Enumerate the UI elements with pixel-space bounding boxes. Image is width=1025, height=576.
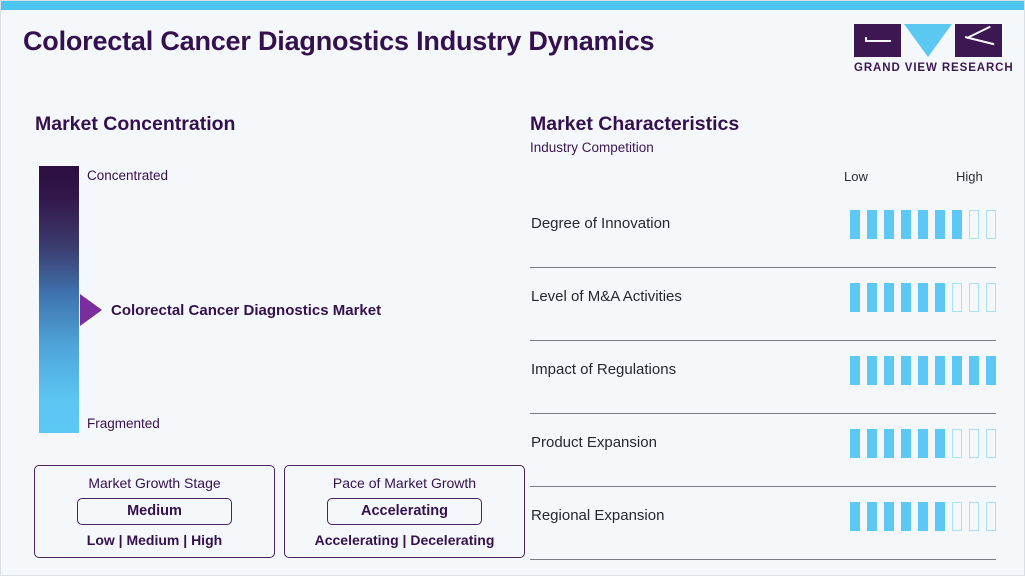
scale-bottom-label: Fragmented: [87, 416, 160, 431]
market-growth-stage-box: Market Growth Stage Medium Low | Medium …: [34, 465, 275, 558]
rating-tick-filled: [901, 429, 911, 458]
rating-tick-filled: [884, 210, 894, 239]
marker-arrow-icon: [80, 294, 102, 326]
concentration-gradient-bar: [39, 166, 79, 433]
page-title: Colorectal Cancer Diagnostics Industry D…: [23, 26, 654, 57]
infographic-canvas: Colorectal Cancer Diagnostics Industry D…: [0, 0, 1025, 576]
rating-tick-filled: [884, 283, 894, 312]
pace-value: Accelerating: [327, 498, 482, 525]
rating-tick-empty: [986, 502, 996, 531]
rating-tick-filled: [850, 210, 860, 239]
scale-low-label: Low: [844, 169, 868, 184]
rating-tick-filled: [901, 283, 911, 312]
rating-tick-empty: [969, 283, 979, 312]
market-position-marker: Colorectal Cancer Diagnostics Market: [80, 294, 381, 326]
characteristic-rating-bars: [850, 283, 996, 312]
characteristic-row: Impact of Regulations: [530, 341, 996, 414]
logo-marks: [854, 24, 1002, 57]
rating-tick-empty: [969, 210, 979, 239]
characteristic-label: Level of M&A Activities: [531, 288, 682, 305]
rating-tick-filled: [935, 210, 945, 239]
rating-tick-filled: [918, 356, 928, 385]
characteristic-label: Regional Expansion: [531, 507, 664, 524]
market-concentration-title: Market Concentration: [35, 113, 505, 136]
rating-tick-filled: [969, 356, 979, 385]
logo-r-block-icon: [955, 24, 1002, 57]
growth-stage-heading: Market Growth Stage: [48, 475, 261, 491]
growth-stage-scale: Low | Medium | High: [48, 532, 261, 548]
rating-tick-filled: [918, 210, 928, 239]
market-characteristics-title: Market Characteristics: [530, 113, 996, 136]
rating-tick-filled: [935, 502, 945, 531]
rating-tick-empty: [969, 429, 979, 458]
rating-tick-filled: [850, 283, 860, 312]
pace-heading: Pace of Market Growth: [298, 475, 511, 491]
rating-tick-filled: [867, 283, 877, 312]
scale-header: Low High: [530, 169, 996, 191]
logo-g-block-icon: [854, 24, 901, 57]
header: Colorectal Cancer Diagnostics Industry D…: [1, 10, 1025, 88]
rating-tick-filled: [918, 283, 928, 312]
characteristic-row: Level of M&A Activities: [530, 268, 996, 341]
characteristic-label: Product Expansion: [531, 434, 657, 451]
growth-stat-boxes: Market Growth Stage Medium Low | Medium …: [34, 465, 525, 558]
characteristic-row: Product Expansion: [530, 414, 996, 487]
rating-tick-filled: [884, 356, 894, 385]
scale-top-label: Concentrated: [87, 168, 168, 183]
rating-tick-empty: [952, 429, 962, 458]
rating-tick-filled: [850, 502, 860, 531]
rating-tick-filled: [952, 356, 962, 385]
scale-high-label: High: [956, 169, 983, 184]
rating-tick-empty: [986, 429, 996, 458]
market-characteristics-subtitle: Industry Competition: [530, 140, 996, 155]
rating-tick-filled: [952, 210, 962, 239]
rating-tick-filled: [935, 429, 945, 458]
characteristic-label: Degree of Innovation: [531, 215, 670, 232]
rating-tick-filled: [901, 502, 911, 531]
logo-triangle-icon: [904, 24, 952, 57]
rating-tick-filled: [918, 429, 928, 458]
pace-of-growth-box: Pace of Market Growth Accelerating Accel…: [284, 465, 525, 558]
brand-logo: GRAND VIEW RESEARCH: [854, 24, 1002, 74]
rating-tick-empty: [969, 502, 979, 531]
rating-tick-filled: [884, 429, 894, 458]
rating-tick-empty: [952, 502, 962, 531]
marker-label: Colorectal Cancer Diagnostics Market: [111, 302, 381, 319]
rating-tick-filled: [935, 283, 945, 312]
logo-wordmark: GRAND VIEW RESEARCH: [854, 62, 1002, 74]
rating-tick-empty: [986, 210, 996, 239]
rating-tick-filled: [935, 356, 945, 385]
characteristics-table: Degree of InnovationLevel of M&A Activit…: [530, 195, 996, 560]
rating-tick-filled: [884, 502, 894, 531]
rating-tick-empty: [952, 283, 962, 312]
market-concentration-panel: Market Concentration Concentrated Fragme…: [35, 113, 505, 454]
rating-tick-filled: [901, 210, 911, 239]
concentration-scale: Concentrated Fragmented Colorectal Cance…: [35, 166, 505, 454]
characteristic-rating-bars: [850, 356, 996, 385]
characteristic-rating-bars: [850, 502, 996, 531]
rating-tick-filled: [901, 356, 911, 385]
characteristic-rating-bars: [850, 210, 996, 239]
characteristic-rating-bars: [850, 429, 996, 458]
rating-tick-filled: [867, 502, 877, 531]
characteristic-row: Degree of Innovation: [530, 195, 996, 268]
characteristic-row: Regional Expansion: [530, 487, 996, 560]
rating-tick-filled: [986, 356, 996, 385]
rating-tick-filled: [867, 356, 877, 385]
rating-tick-filled: [867, 210, 877, 239]
pace-scale: Accelerating | Decelerating: [298, 532, 511, 548]
market-characteristics-panel: Market Characteristics Industry Competit…: [530, 113, 996, 560]
top-accent-bar: [1, 1, 1025, 10]
rating-tick-filled: [850, 356, 860, 385]
growth-stage-value: Medium: [77, 498, 232, 525]
rating-tick-filled: [918, 502, 928, 531]
rating-tick-empty: [986, 283, 996, 312]
rating-tick-filled: [867, 429, 877, 458]
characteristic-label: Impact of Regulations: [531, 361, 676, 378]
rating-tick-filled: [850, 429, 860, 458]
